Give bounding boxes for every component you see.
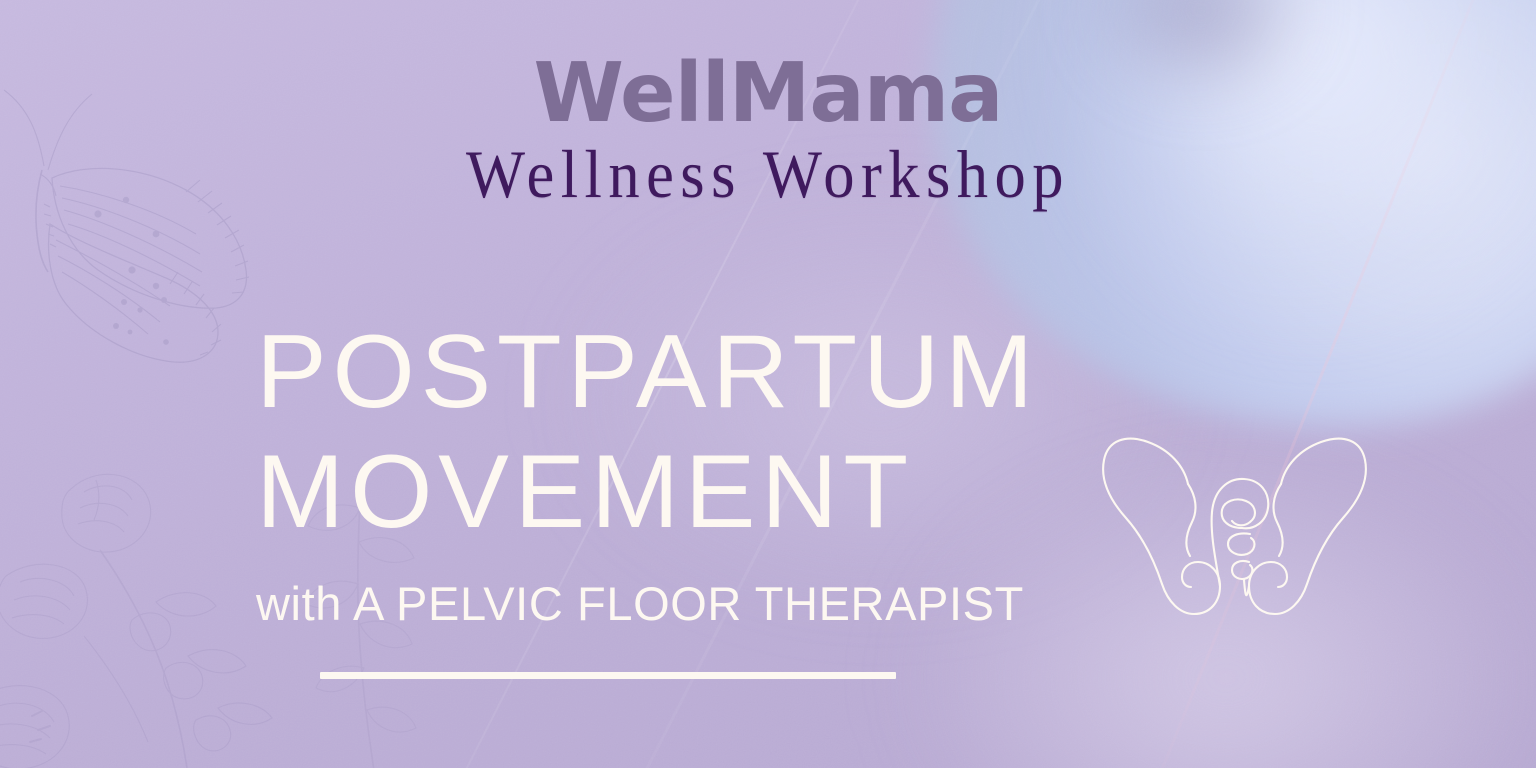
brand-tagline: Wellness Workshop (61, 138, 1474, 211)
divider-rule (320, 672, 896, 679)
brand-name: WellMama (0, 54, 1536, 134)
headline-line-1: POSTPARTUM (256, 312, 1337, 432)
brand-block: WellMama Wellness Workshop (0, 54, 1536, 212)
pelvis-line-art-icon (1092, 422, 1377, 622)
poster-canvas: WellMama Wellness Workshop POSTPARTUM MO… (0, 0, 1536, 768)
